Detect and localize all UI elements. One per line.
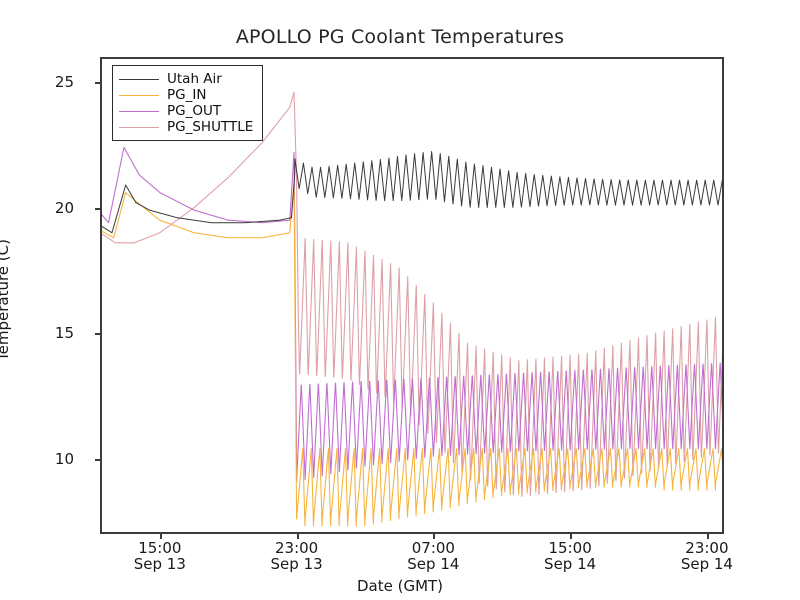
axis-spine-left bbox=[100, 57, 102, 534]
x-tick-label: 07:00Sep 14 bbox=[407, 540, 459, 572]
legend-swatch-line-icon bbox=[119, 95, 159, 96]
legend-label: PG_SHUTTLE bbox=[167, 119, 253, 135]
legend-item-pg-out[interactable]: PG_OUT bbox=[119, 103, 253, 119]
legend-item-pg-shuttle[interactable]: PG_SHUTTLE bbox=[119, 119, 253, 135]
x-tick-date: Sep 14 bbox=[407, 556, 459, 572]
y-tick-label: 15 bbox=[55, 324, 74, 342]
series-line-pg-out bbox=[100, 147, 724, 481]
legend-item-pg-in[interactable]: PG_IN bbox=[119, 87, 253, 103]
x-tick-label: 15:00Sep 13 bbox=[134, 540, 186, 572]
y-tick-mark bbox=[95, 82, 100, 84]
x-tick-label: 23:00Sep 14 bbox=[681, 540, 733, 572]
axis-spine-bottom bbox=[100, 532, 724, 534]
legend-label: Utah Air bbox=[167, 71, 222, 87]
x-tick-date: Sep 13 bbox=[134, 556, 186, 572]
legend-swatch-line-icon bbox=[119, 127, 159, 128]
y-tick-mark bbox=[95, 208, 100, 210]
figure-canvas: APOLLO PG Coolant Temperatures Temperatu… bbox=[0, 0, 800, 600]
axis-spine-right bbox=[722, 57, 724, 534]
x-tick-time: 07:00 bbox=[407, 540, 459, 556]
axis-spine-top bbox=[100, 57, 724, 59]
y-tick-label: 20 bbox=[55, 199, 74, 217]
x-tick-date: Sep 13 bbox=[271, 556, 323, 572]
y-tick-label: 25 bbox=[55, 73, 74, 91]
chart-legend[interactable]: Utah AirPG_INPG_OUTPG_SHUTTLE bbox=[112, 65, 263, 141]
x-tick-time: 23:00 bbox=[681, 540, 733, 556]
x-tick-label: 15:00Sep 14 bbox=[544, 540, 596, 572]
x-tick-time: 15:00 bbox=[544, 540, 596, 556]
y-axis-label: Temperature (C) bbox=[0, 239, 12, 361]
x-tick-label: 23:00Sep 13 bbox=[271, 540, 323, 572]
legend-label: PG_IN bbox=[167, 87, 206, 103]
x-axis-label: Date (GMT) bbox=[0, 577, 800, 595]
plot-area: Utah AirPG_INPG_OUTPG_SHUTTLE bbox=[100, 57, 724, 534]
x-tick-time: 23:00 bbox=[271, 540, 323, 556]
y-tick-label: 10 bbox=[55, 450, 74, 468]
legend-swatch-line-icon bbox=[119, 111, 159, 112]
chart-title: APOLLO PG Coolant Temperatures bbox=[0, 26, 800, 48]
y-tick-mark bbox=[95, 333, 100, 335]
x-tick-date: Sep 14 bbox=[681, 556, 733, 572]
series-line-utah-air bbox=[100, 152, 724, 233]
x-tick-time: 15:00 bbox=[134, 540, 186, 556]
legend-swatch-line-icon bbox=[119, 79, 159, 80]
legend-item-utah air[interactable]: Utah Air bbox=[119, 71, 253, 87]
x-tick-date: Sep 14 bbox=[544, 556, 596, 572]
y-tick-mark bbox=[95, 459, 100, 461]
legend-label: PG_OUT bbox=[167, 103, 221, 119]
